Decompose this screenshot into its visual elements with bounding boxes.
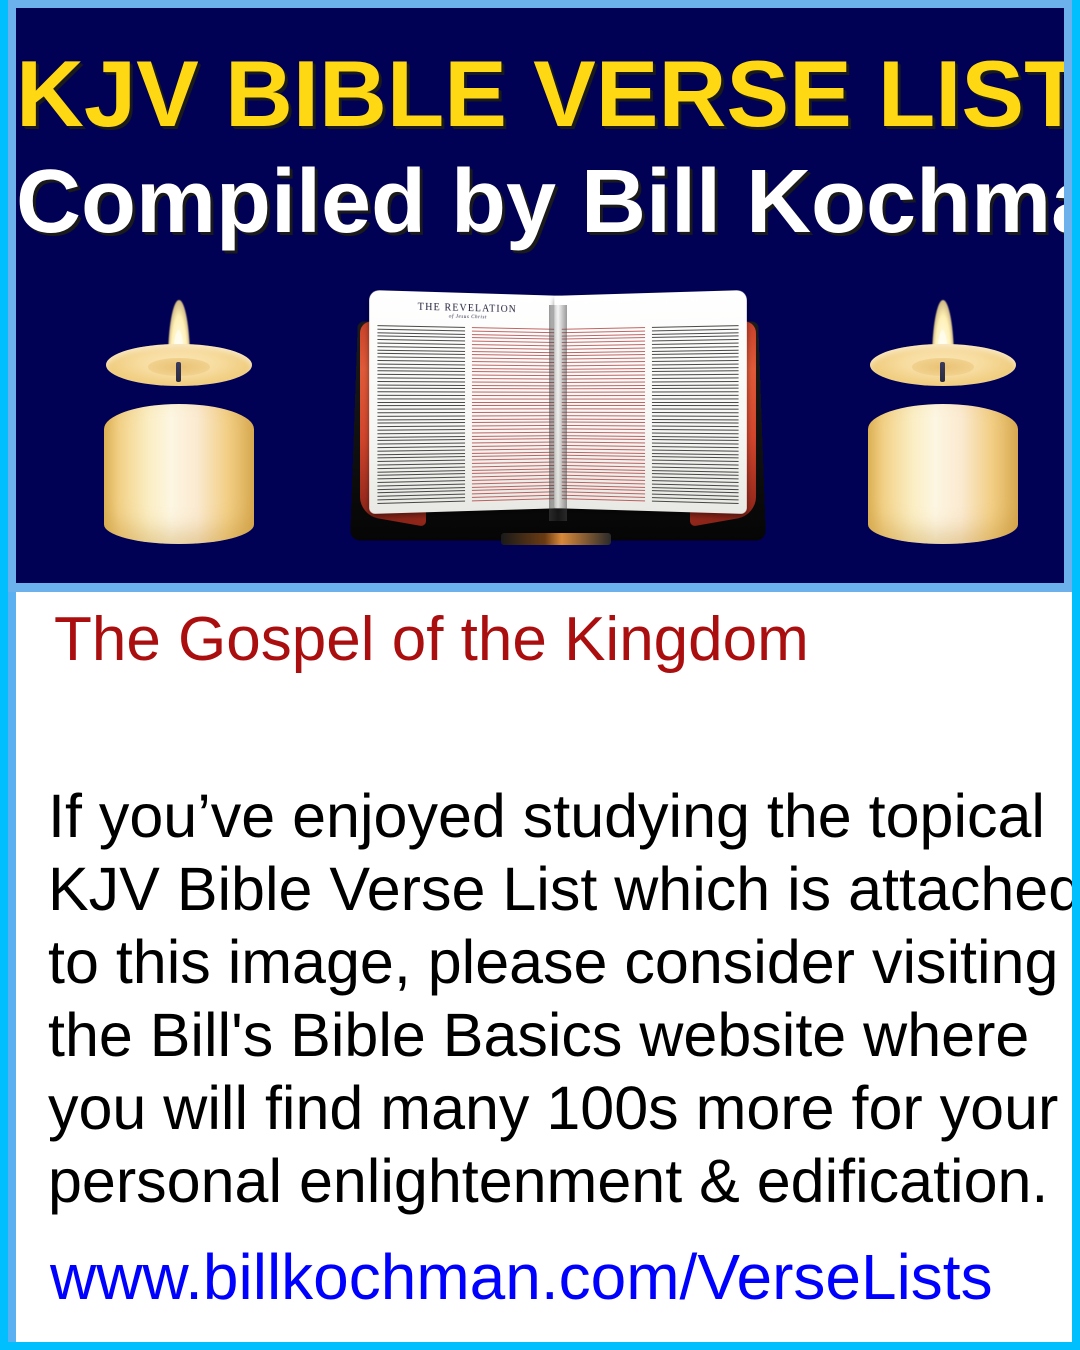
main-content: The Gospel of the Kingdom If you’ve enjo… — [16, 592, 1072, 1342]
bible-gutter — [549, 305, 567, 521]
promo-line: the Bill's Bible Basics website where — [48, 999, 1056, 1072]
bible-page-heading: THE REVELATION of Jesus Christ — [369, 300, 562, 322]
page-title: KJV BIBLE VERSE LIST — [16, 44, 1064, 144]
bible-page-subheading-text: of Jesus Christ — [369, 313, 562, 323]
bible-text-columns-right — [562, 325, 739, 505]
website-url-link[interactable]: www.billkochman.com/VerseLists — [50, 1242, 993, 1312]
bible-text-column-red — [471, 327, 554, 503]
bible-text-column-red — [562, 327, 645, 503]
open-bible-image: THE REVELATION of Jesus Christ — [346, 289, 770, 551]
candle-body — [868, 404, 1018, 544]
promo-line: KJV Bible Verse List which is attached — [48, 853, 1056, 926]
topic-heading: The Gospel of the Kingdom — [54, 604, 809, 676]
promo-line: you will find many 100s more for your — [48, 1072, 1056, 1145]
bible-text-column — [377, 325, 464, 505]
section-divider — [8, 583, 1072, 592]
bible-spine — [501, 533, 611, 545]
promo-paragraph: If you’ve enjoyed studying the topical K… — [48, 780, 1056, 1218]
candle-wick — [940, 362, 945, 382]
candle-wick — [176, 362, 181, 382]
bible-text-columns-left — [377, 325, 554, 505]
candle-left — [104, 344, 254, 544]
page-subtitle: Compiled by Bill Kochman — [16, 150, 1064, 254]
left-rail — [8, 592, 16, 1342]
promo-line: to this image, please consider visiting — [48, 926, 1056, 999]
promo-line: If you’ve enjoyed studying the topical — [48, 780, 1056, 853]
candle-body — [104, 404, 254, 544]
bible-text-column — [651, 325, 738, 505]
header-banner: KJV BIBLE VERSE LIST Compiled by Bill Ko… — [8, 0, 1072, 583]
bible-page-heading-text: THE REVELATION — [418, 302, 517, 316]
candle-right — [868, 344, 1018, 544]
bible-page-left: THE REVELATION of Jesus Christ — [369, 290, 562, 514]
poster-canvas: KJV BIBLE VERSE LIST Compiled by Bill Ko… — [0, 0, 1080, 1350]
promo-line: personal enlightenment & edification. — [48, 1145, 1056, 1218]
bible-page-right — [554, 290, 747, 514]
